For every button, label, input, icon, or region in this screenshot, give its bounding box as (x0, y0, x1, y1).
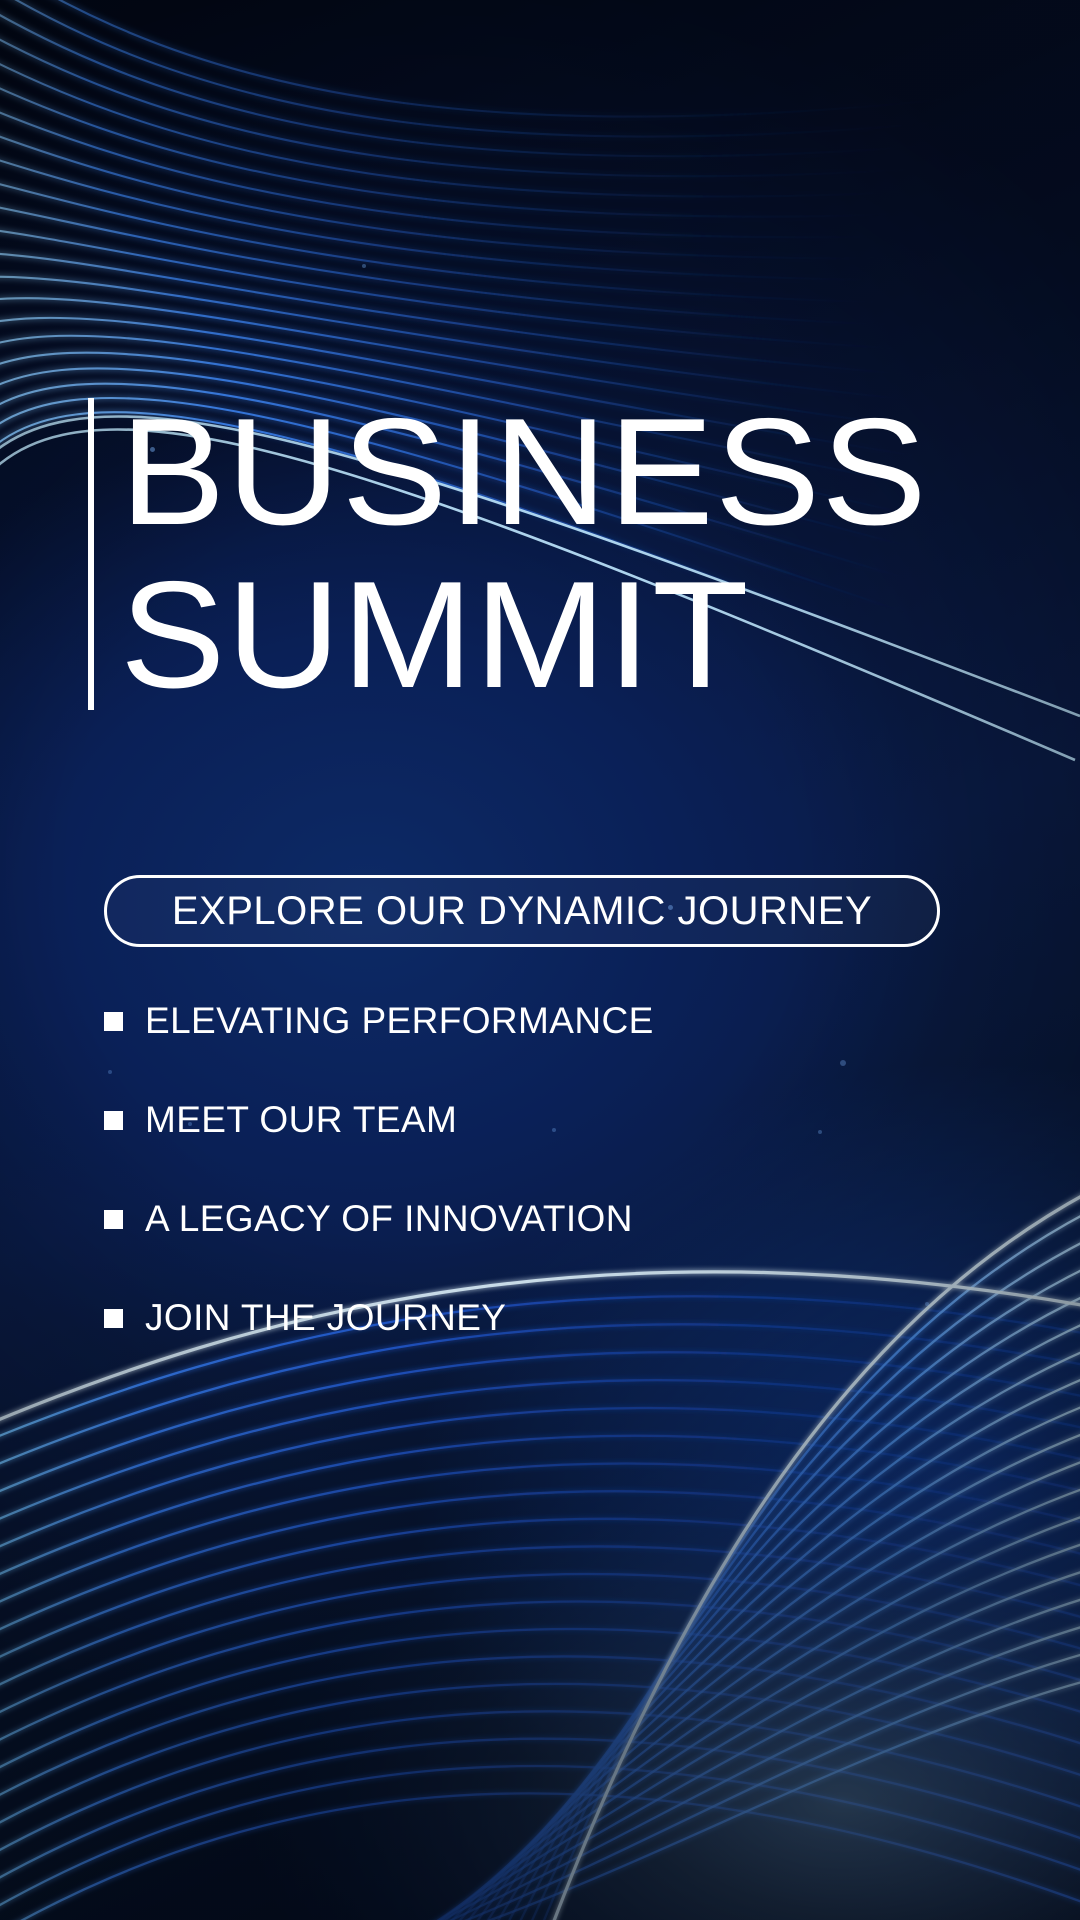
title-line-1: BUSINESS (120, 398, 928, 547)
poster-content: BUSINESS SUMMIT EXPLORE OUR DYNAMIC JOUR… (0, 0, 1080, 1920)
poster-canvas: BUSINESS SUMMIT EXPLORE OUR DYNAMIC JOUR… (0, 0, 1080, 1920)
explore-journey-button[interactable]: EXPLORE OUR DYNAMIC JOURNEY (104, 875, 940, 947)
list-item-label: MEET OUR TEAM (145, 1099, 457, 1141)
square-bullet-icon (104, 1111, 123, 1130)
title-lines: BUSINESS SUMMIT (120, 398, 897, 710)
list-item[interactable]: ELEVATING PERFORMANCE (104, 1000, 654, 1042)
page-title: BUSINESS SUMMIT (88, 398, 897, 710)
title-line-2: SUMMIT (120, 561, 928, 710)
list-item[interactable]: A LEGACY OF INNOVATION (104, 1198, 654, 1240)
square-bullet-icon (104, 1012, 123, 1031)
agenda-list: ELEVATING PERFORMANCE MEET OUR TEAM A LE… (104, 1000, 654, 1339)
list-item-label: A LEGACY OF INNOVATION (145, 1198, 633, 1240)
title-accent-rule-icon (88, 398, 94, 710)
list-item-label: ELEVATING PERFORMANCE (145, 1000, 654, 1042)
square-bullet-icon (104, 1210, 123, 1229)
list-item-label: JOIN THE JOURNEY (145, 1297, 506, 1339)
list-item[interactable]: MEET OUR TEAM (104, 1099, 654, 1141)
explore-journey-button-label: EXPLORE OUR DYNAMIC JOURNEY (172, 889, 872, 934)
list-item[interactable]: JOIN THE JOURNEY (104, 1297, 654, 1339)
square-bullet-icon (104, 1309, 123, 1328)
